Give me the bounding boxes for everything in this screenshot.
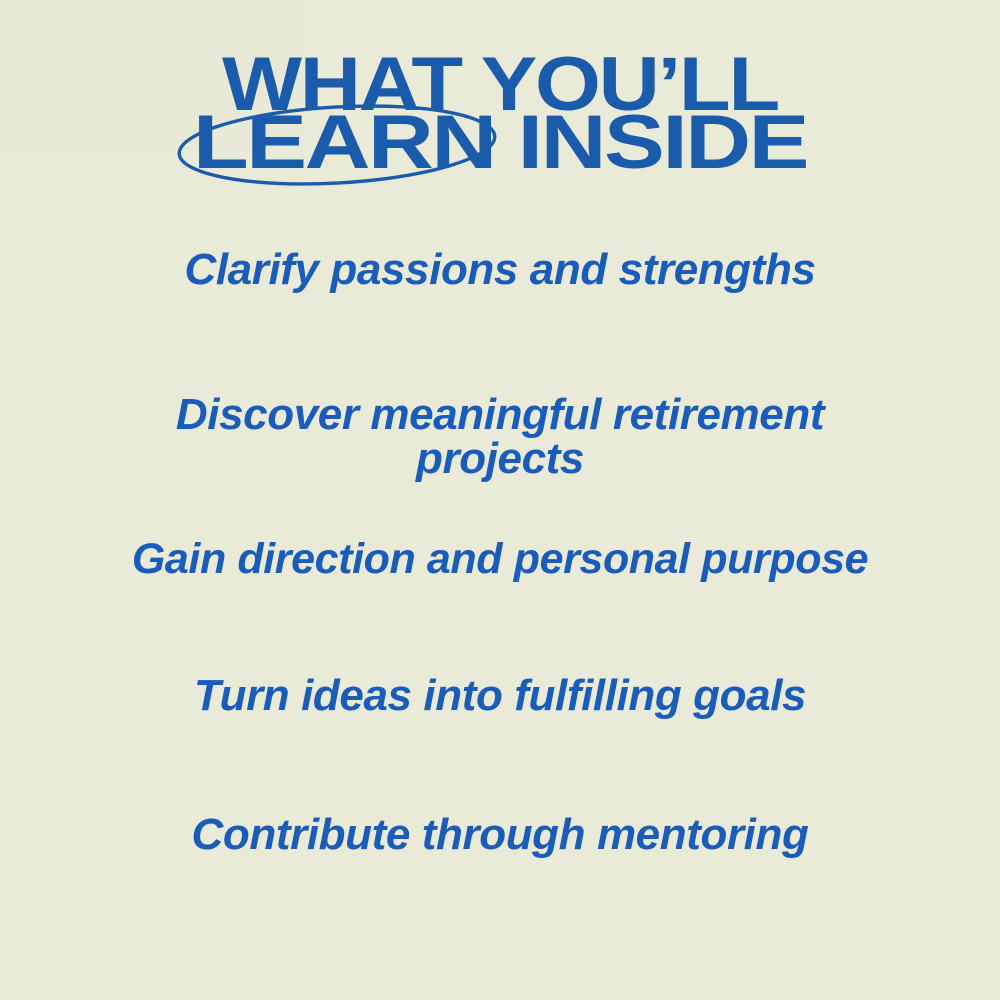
- list-item: Gain direction and personal purpose: [0, 518, 1000, 657]
- list-item: Turn ideas into fulfilling goals: [0, 658, 1000, 797]
- list-item: Discover meaningful retirement projects: [0, 375, 1000, 518]
- benefits-list: Clarify passions and strengths Discover …: [0, 236, 1000, 936]
- list-item-label: Turn ideas into fulfilling goals: [194, 671, 806, 720]
- list-item-label: Gain direction and personal purpose: [132, 535, 868, 583]
- list-item-label: Clarify passions and strengths: [184, 245, 815, 294]
- poster-canvas: WHAT YOU’LL LEARN INSIDE Clarify passion…: [0, 0, 1000, 1000]
- heading-artwork: WHAT YOU’LL LEARN INSIDE: [0, 44, 1000, 184]
- list-item-label: Discover meaningful retirement projects: [105, 393, 895, 481]
- page-title: WHAT YOU’LL LEARN INSIDE: [0, 44, 1000, 184]
- list-item: Contribute through mentoring: [0, 797, 1000, 936]
- list-item-label: Contribute through mentoring: [192, 810, 809, 859]
- list-item: Clarify passions and strengths: [0, 236, 1000, 375]
